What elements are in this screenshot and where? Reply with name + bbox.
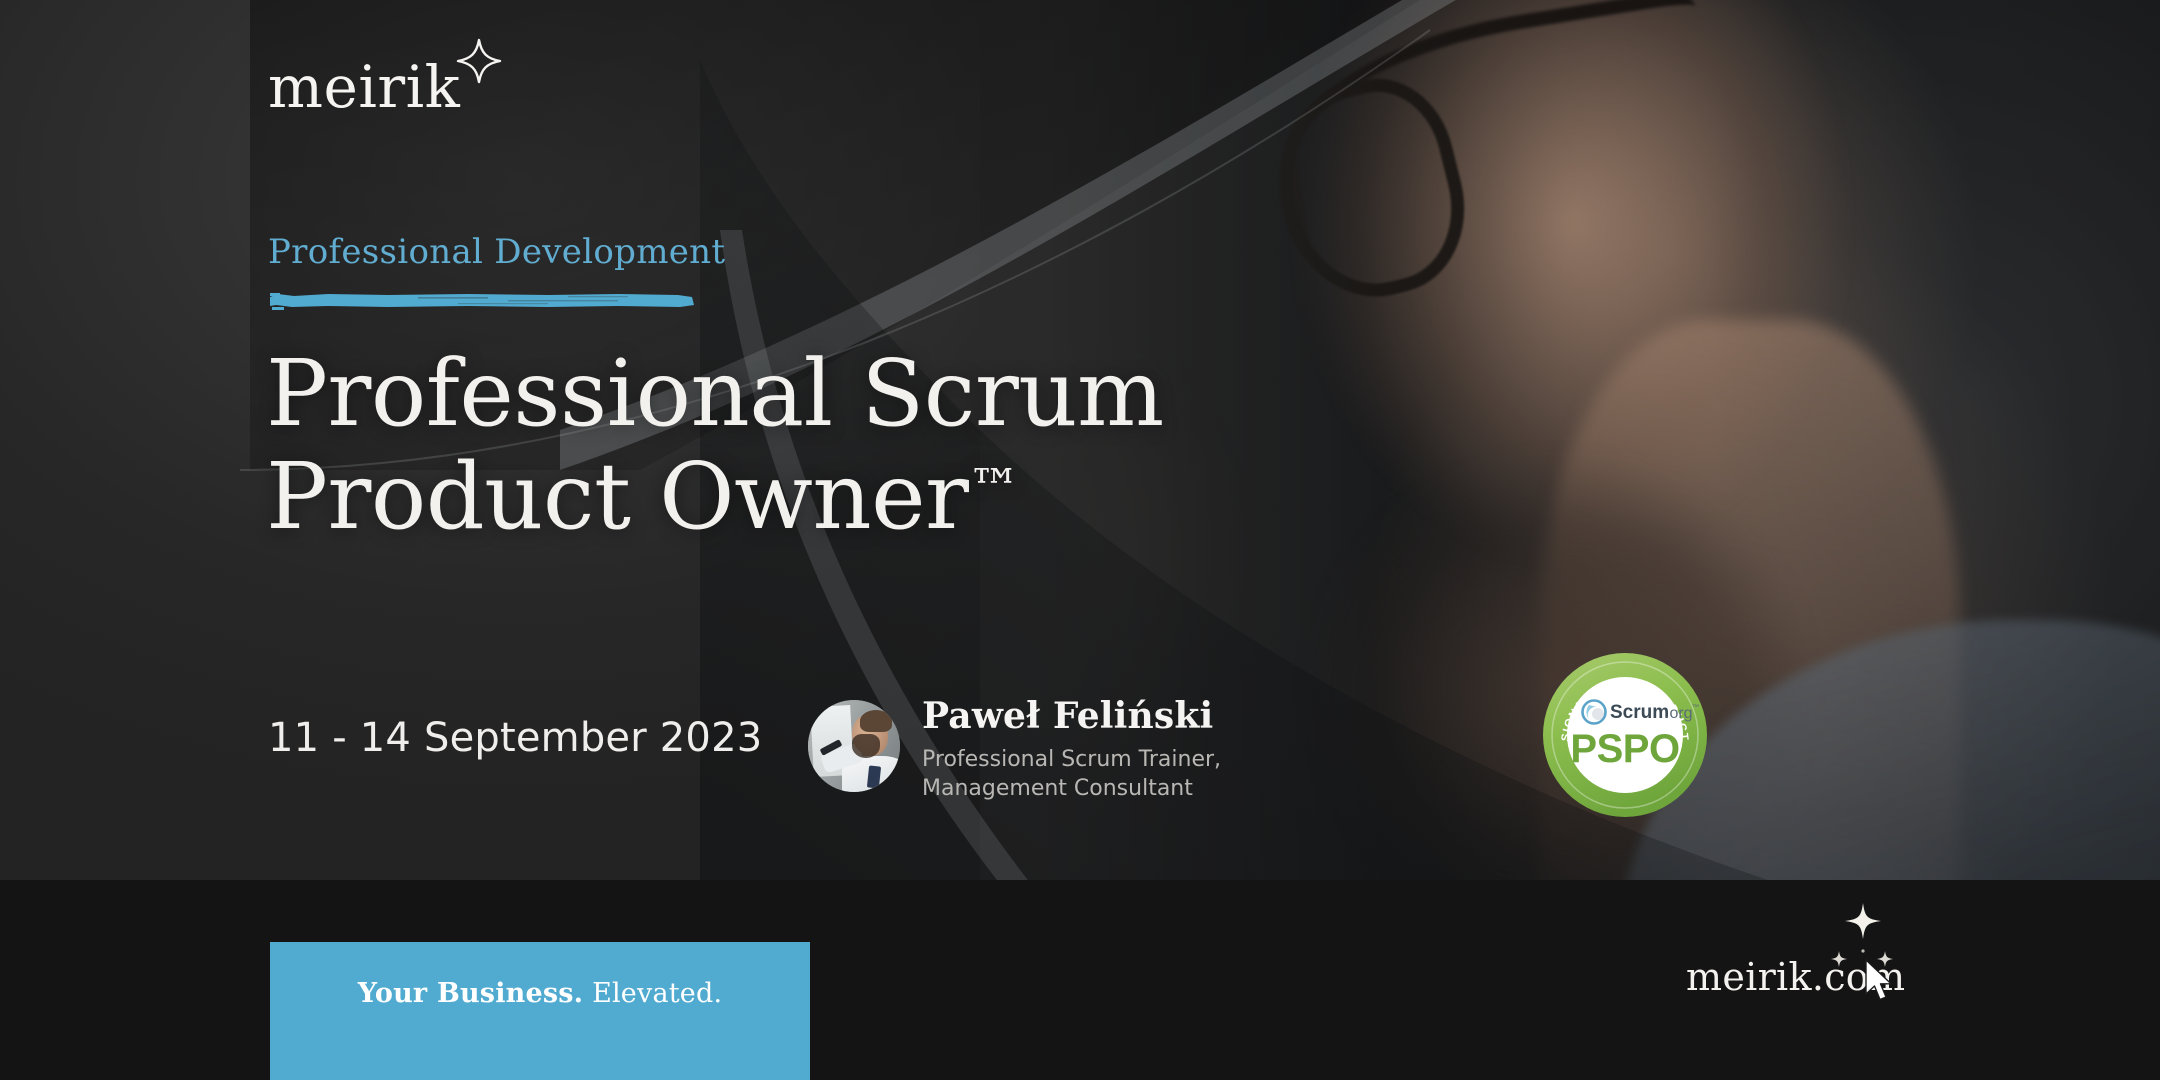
pspo-certification-badge: PROFESSIONAL SCRUM PRODUCT OWNER Scrum .… [1542, 652, 1708, 818]
course-dates: 11 - 14 September 2023 [268, 715, 762, 761]
brand-logo-text: meirik [268, 58, 460, 116]
svg-text:™: ™ [1692, 704, 1699, 711]
svg-text:Scrum: Scrum [1610, 702, 1669, 723]
presenter-role: Professional Scrum Trainer, Management C… [922, 745, 1221, 803]
tagline-box: Your Business. Elevated. [270, 942, 810, 1080]
presenter-text: Paweł Feliński Professional Scrum Traine… [922, 696, 1221, 803]
page-title-text: Professional Scrum Product Owner [266, 340, 1164, 550]
avatar-hair [860, 710, 892, 732]
presenter-name: Paweł Feliński [922, 696, 1221, 736]
mouse-pointer-icon [1862, 958, 1896, 1004]
slide-canvas: meirik Professional Development Professi… [0, 0, 2160, 1080]
avatar [808, 700, 900, 792]
sparkle-star-icon [456, 38, 502, 91]
tagline-bold: Your Business. [358, 978, 584, 1009]
trademark-symbol: ™ [969, 459, 1021, 519]
brand-logo[interactable]: meirik [268, 58, 502, 116]
badge-acronym: PSPO [1570, 727, 1679, 771]
svg-text:.org: .org [1665, 705, 1693, 722]
avatar-tie [867, 765, 881, 788]
page-title: Professional Scrum Product Owner™ [266, 342, 1164, 548]
tagline: Your Business. Elevated. [358, 978, 722, 1009]
presenter-block: Paweł Feliński Professional Scrum Traine… [808, 696, 1221, 803]
brush-underline [268, 288, 696, 314]
tagline-regular: Elevated. [583, 978, 722, 1009]
eyebrow-label: Professional Development [268, 232, 725, 272]
avatar-beard [852, 734, 880, 758]
